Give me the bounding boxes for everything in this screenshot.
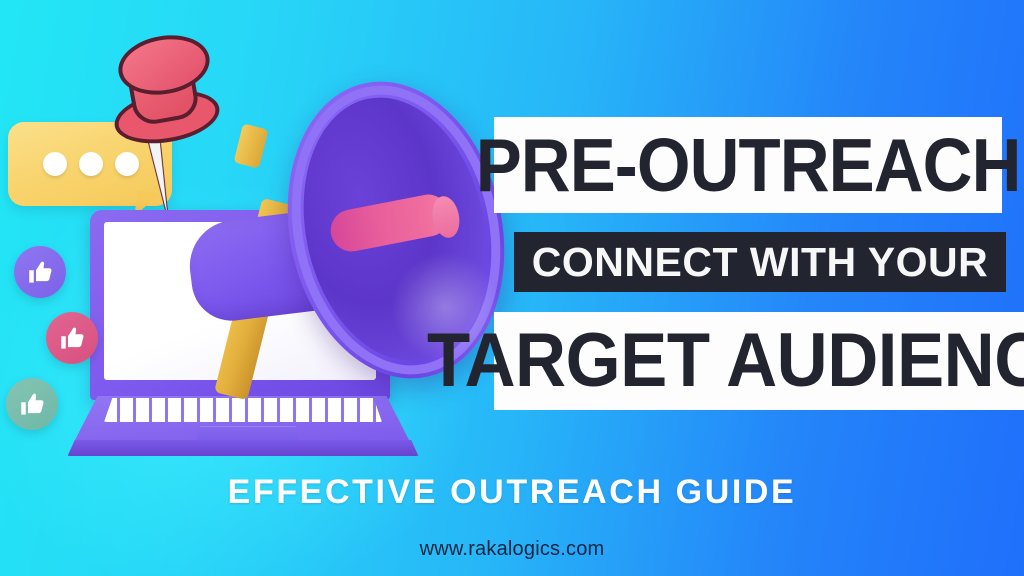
subheadline: EFFECTIVE OUTREACH GUIDE [0,473,1024,512]
headline-line-1-text: PRE-OUTREACH [476,128,1021,203]
thumbs-up-icon-purple [14,246,66,298]
headline-line-1-block: PRE-OUTREACH [494,117,1002,213]
laptop-base [64,440,422,456]
headline-line-3-text: TARGET AUDIENCE [427,323,1024,399]
headline-line-2-block: CONNECT WITH YOUR [514,232,1006,292]
thumbs-up-glyph [59,325,86,352]
website-url: www.rakalogics.com [0,538,1024,561]
thumbs-up-glyph [19,391,46,418]
banner-canvas: PRE-OUTREACH CONNECT WITH YOUR TARGET AU… [0,0,1024,576]
megaphone-handle-top [234,123,269,168]
headline-line-3-block: TARGET AUDIENCE [494,312,1024,410]
laptop-keyboard [104,398,382,422]
thumbs-up-icon-teal [6,378,58,430]
chat-bubble-dot [43,152,67,176]
thumbs-up-icon-pink [46,312,98,364]
headline-line-2-text: CONNECT WITH YOUR [532,242,988,283]
thumbs-up-glyph [27,259,54,286]
